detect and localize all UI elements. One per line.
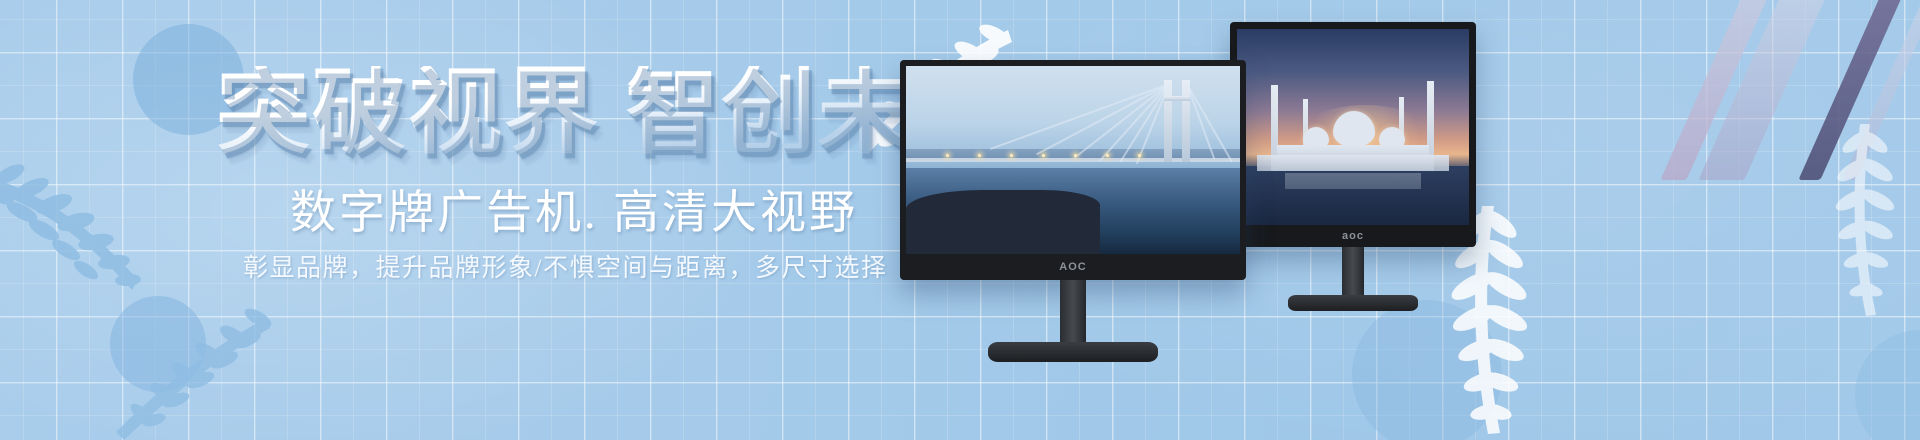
bridge-light-6 (1106, 154, 1109, 157)
mosque-arcade (1257, 155, 1449, 171)
bridge-light-1 (946, 154, 949, 157)
monitor-back-stand-base (1288, 295, 1418, 311)
promo-banner: 突破视界 智创未来 数字牌广告机. 高清大视野 彰显品牌，提升品牌形象/不惧空间… (0, 0, 1920, 440)
monitor-front-logo: AOC (1059, 261, 1086, 273)
monitor-front: AOC (900, 60, 1246, 362)
monitor-back-screen (1237, 29, 1469, 225)
bridge-pylon-cross (1164, 96, 1190, 101)
monitor-front-bezel: AOC (900, 60, 1246, 280)
subtitle: 数字牌广告机. 高清大视野 (290, 190, 858, 236)
decor-circle-bottom-right (1352, 300, 1502, 440)
monitor-back-stand-neck (1342, 247, 1364, 295)
bridge-light-2 (978, 154, 981, 157)
mosque-reflection (1285, 173, 1421, 189)
monitor-front-stand-base (988, 342, 1158, 362)
bridge-light-4 (1042, 154, 1045, 157)
page-title: 突破视界 智创未来 (216, 66, 1010, 160)
bridge-light-7 (1138, 154, 1141, 157)
monitor-back: aoc (1230, 22, 1476, 311)
monitor-back-bezel: aoc (1230, 22, 1476, 247)
monitor-front-screen (906, 66, 1240, 254)
monitor-front-chin: AOC (906, 254, 1240, 280)
monitor-back-logo: aoc (1342, 230, 1364, 242)
mosque-dome-center (1333, 111, 1375, 147)
copy-block: 突破视界 智创未来 数字牌广告机. 高清大视野 彰显品牌，提升品牌形象/不惧空间… (0, 0, 900, 440)
bridge-light-3 (1010, 154, 1013, 157)
monitor-front-stand-neck (1060, 280, 1086, 342)
monitor-back-chin: aoc (1237, 225, 1469, 247)
bridge-light-5 (1074, 154, 1077, 157)
bridge-foreground-rocks (906, 190, 1100, 254)
description-text: 彰显品牌，提升品牌形象/不惧空间与距离，多尺寸选择 (243, 256, 887, 281)
